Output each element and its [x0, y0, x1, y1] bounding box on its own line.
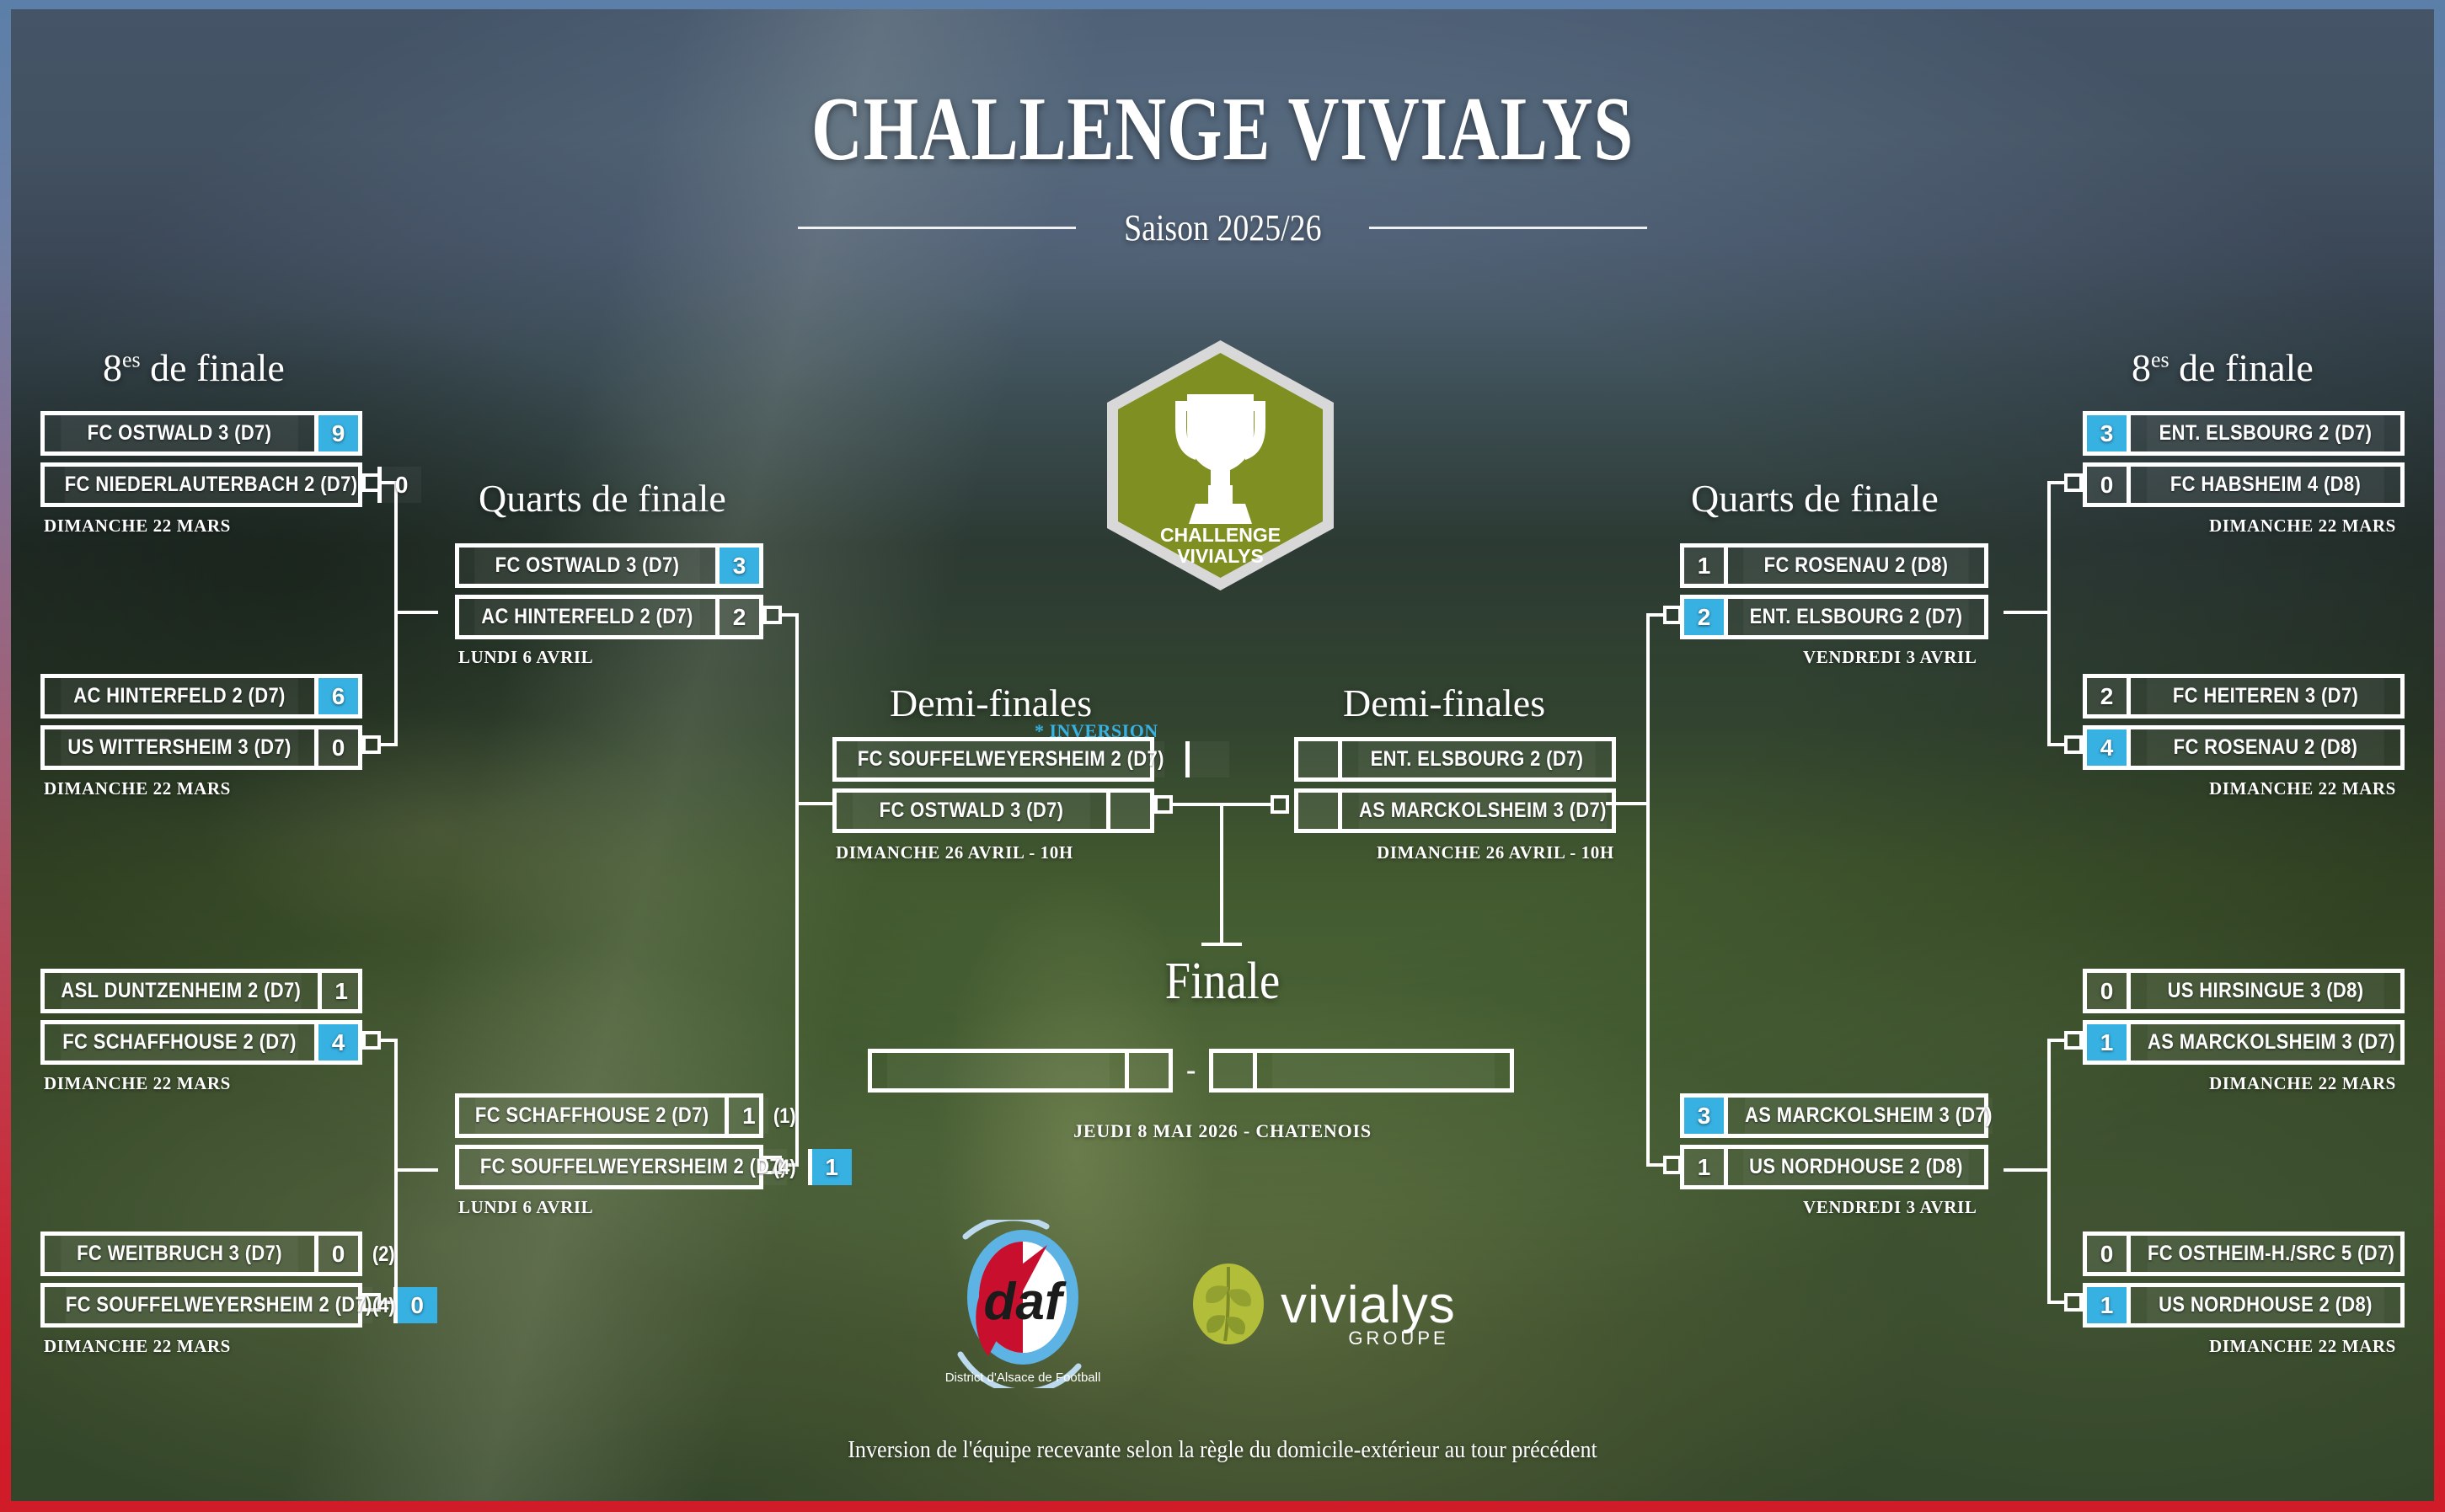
final-home-box[interactable]	[868, 1049, 1173, 1093]
team-score: 0	[314, 729, 358, 766]
season-subtitle: Saison 2025/26	[1124, 206, 1321, 249]
team-name: FC HEITEREN 3 (D7)	[2147, 678, 2384, 714]
match-row-home[interactable]: FC OSTWALD 3 (D7) 9	[40, 411, 362, 456]
final-away-box[interactable]	[1209, 1049, 1514, 1093]
connector-line	[1173, 803, 1223, 806]
connector-line	[394, 1168, 438, 1172]
match-row-away[interactable]: FC SOUFFELWEYERSHEIM 2 (D7) 0	[40, 1283, 362, 1328]
team-score: 1	[2087, 1024, 2131, 1061]
match-date: VENDREDI 3 AVRIL	[1803, 1197, 1977, 1218]
final-home-team	[887, 1053, 1110, 1088]
match-row-away[interactable]: FC NIEDERLAUTERBACH 2 (D7) 0	[40, 462, 362, 507]
team-name: ENT. ELSBOURG 2 (D7)	[1743, 599, 1969, 635]
connector-line	[1201, 943, 1242, 946]
connector-node	[763, 606, 782, 624]
sponsor-logos: daf District d'Alsace de Football vivial…	[935, 1220, 1500, 1388]
connector-line	[1646, 1163, 1663, 1167]
team-score: 6	[314, 678, 358, 714]
team-score: 0	[393, 1287, 437, 1323]
match-row-home[interactable]: 3 ENT. ELSBOURG 2 (D7)	[2083, 411, 2405, 456]
connector-node	[2064, 473, 2083, 492]
match-date: DIMANCHE 22 MARS	[44, 516, 231, 537]
challenge-badge: CHALLENGE VIVIALYS	[1100, 337, 1340, 594]
connector-line	[2047, 481, 2051, 743]
team-score: 2	[2087, 678, 2131, 714]
final-away-team	[1272, 1053, 1495, 1088]
match-date: VENDREDI 3 AVRIL	[1803, 647, 1977, 668]
connector-node	[362, 1031, 381, 1050]
match-date: DIMANCHE 26 AVRIL - 10H	[1377, 842, 1614, 863]
connector-node	[1154, 795, 1173, 814]
connector-node	[1663, 1156, 1682, 1174]
team-name: FC OSTWALD 3 (D7)	[853, 793, 1090, 829]
team-name: ENT. ELSBOURG 2 (D7)	[2147, 415, 2384, 451]
team-name: US NORDHOUSE 2 (D8)	[2147, 1287, 2384, 1323]
match-date: DIMANCHE 22 MARS	[44, 1073, 231, 1094]
team-name: AC HINTERFELD 2 (D7)	[474, 599, 700, 635]
team-name: AC HINTERFELD 2 (D7)	[61, 678, 298, 714]
connector-node	[1271, 795, 1289, 814]
team-score: 0	[2087, 1236, 2131, 1272]
match-r16-4[interactable]: 0 FC OSTHEIM-H./SRC 5 (D7) 1 US NORDHOUS…	[2083, 1232, 2405, 1328]
match-row-home[interactable]: 0 FC OSTHEIM-H./SRC 5 (D7)	[2083, 1232, 2405, 1276]
team-score: 3	[715, 548, 759, 584]
match-row-home[interactable]: 2 FC HEITEREN 3 (D7)	[2083, 674, 2405, 719]
team-name: FC SOUFFELWEYERSHEIM 2 (D7)	[66, 1287, 372, 1323]
final-separator: -	[1186, 1055, 1196, 1087]
match-rqf-1[interactable]: 1 FC ROSENAU 2 (D8) 2 ENT. ELSBOURG 2 (D…	[1680, 543, 1988, 639]
match-lqf-1[interactable]: FC OSTWALD 3 (D7) 3 AC HINTERFELD 2 (D7)…	[455, 543, 763, 639]
connector-line	[1220, 803, 1223, 946]
badge-line2: VIVIALYS	[1177, 545, 1264, 567]
team-score: 4	[314, 1024, 358, 1061]
connector-line	[1220, 803, 1271, 806]
connector-line	[795, 613, 799, 1163]
match-l16-4[interactable]: FC WEITBRUCH 3 (D7) 0 FC SOUFFELWEYERSHE…	[40, 1232, 362, 1328]
match-row-away[interactable]: FC SCHAFFHOUSE 2 (D7) 4	[40, 1020, 362, 1065]
team-score	[1106, 793, 1150, 829]
vivialys-wordmark: vivialys	[1281, 1276, 1456, 1334]
match-row-away[interactable]: AC HINTERFELD 2 (D7) 2	[455, 595, 763, 639]
team-name: AS MARCKOLSHEIM 3 (D7)	[2148, 1024, 2395, 1061]
match-row-away[interactable]: FC SOUFFELWEYERSHEIM 2 (D7) 1	[455, 1145, 763, 1189]
footnote: Inversion de l'équipe recevante selon la…	[122, 1436, 2323, 1464]
connector-node	[362, 735, 381, 754]
connector-line	[2047, 743, 2064, 746]
subtitle-row: Saison 2025/26	[0, 206, 2445, 249]
round-title-qf-right: Quarts de finale	[1691, 476, 1939, 521]
team-score: 0	[377, 467, 421, 503]
penalty-score-away: (4)	[372, 1294, 395, 1318]
daf-caption: District d'Alsace de Football	[945, 1370, 1101, 1385]
final-away-score	[1213, 1053, 1257, 1088]
team-name: FC NIEDERLAUTERBACH 2 (D7)	[65, 467, 358, 503]
team-score: 1	[1684, 548, 1728, 584]
match-date: DIMANCHE 22 MARS	[44, 1336, 231, 1357]
match-row-home[interactable]: AC HINTERFELD 2 (D7) 6	[40, 674, 362, 719]
team-name: FC OSTHEIM-H./SRC 5 (D7)	[2148, 1236, 2394, 1272]
team-score: 0	[314, 1236, 358, 1272]
final-match[interactable]: -	[868, 1049, 1514, 1093]
match-row-home[interactable]: FC SOUFFELWEYERSHEIM 2 (D7)	[832, 737, 1154, 782]
match-r16-2[interactable]: 2 FC HEITEREN 3 (D7) 4 FC ROSENAU 2 (D8)	[2083, 674, 2405, 770]
connector-line	[2047, 1039, 2051, 1301]
team-name: AS MARCKOLSHEIM 3 (D7)	[1359, 793, 1607, 829]
connector-node	[2064, 735, 2083, 754]
team-name: FC SOUFFELWEYERSHEIM 2 (D7)	[480, 1149, 787, 1185]
team-score	[1298, 793, 1342, 829]
final-home-score	[1125, 1053, 1169, 1088]
team-score: 4	[2087, 729, 2131, 766]
team-name: FC OSTWALD 3 (D7)	[61, 415, 298, 451]
team-score: 2	[715, 599, 759, 635]
match-row-away[interactable]: FC OSTWALD 3 (D7)	[832, 788, 1154, 833]
connector-node	[2064, 1293, 2083, 1312]
connector-line	[381, 743, 398, 746]
team-name: FC OSTWALD 3 (D7)	[474, 548, 700, 584]
connector-node	[1663, 606, 1682, 624]
team-name: FC HABSHEIM 4 (D8)	[2147, 467, 2384, 503]
round-title-r16-left: 8es de finale	[103, 345, 285, 390]
match-date: DIMANCHE 22 MARS	[2209, 778, 2396, 799]
match-row-home[interactable]: FC OSTWALD 3 (D7) 3	[455, 543, 763, 588]
rule-right	[1369, 227, 1647, 229]
vivialys-sub: GROUPE	[1348, 1328, 1448, 1349]
vivialys-logo: vivialys GROUPE	[1188, 1253, 1500, 1354]
match-row-home[interactable]: 1 FC ROSENAU 2 (D8)	[1680, 543, 1988, 588]
badge-line1: CHALLENGE	[1160, 524, 1281, 546]
match-date: DIMANCHE 22 MARS	[2209, 516, 2396, 537]
match-row-away[interactable]: 1 US NORDHOUSE 2 (D8)	[1680, 1145, 1988, 1189]
match-row-away[interactable]: 1 US NORDHOUSE 2 (D8)	[2083, 1283, 2405, 1328]
team-name: FC SCHAFFHOUSE 2 (D7)	[61, 1024, 298, 1061]
connector-line	[2004, 611, 2047, 614]
match-date: LUNDI 6 AVRIL	[458, 647, 593, 668]
round-title-qf-left: Quarts de finale	[479, 476, 726, 521]
team-name: FC ROSENAU 2 (D8)	[2147, 729, 2384, 766]
match-date: DIMANCHE 26 AVRIL - 10H	[836, 842, 1073, 863]
daf-logo: daf District d'Alsace de Football	[935, 1220, 1129, 1388]
team-score: 3	[2087, 415, 2131, 451]
round-title-r16-right: 8es de finale	[2132, 345, 2314, 390]
team-score: 1	[1684, 1149, 1728, 1185]
match-r16-1[interactable]: 3 ENT. ELSBOURG 2 (D7) 0 FC HABSHEIM 4 (…	[2083, 411, 2405, 507]
connector-line	[2047, 1301, 2064, 1304]
match-l16-1[interactable]: FC OSTWALD 3 (D7) 9 FC NIEDERLAUTERBACH …	[40, 411, 362, 507]
final-title: Finale	[147, 952, 2298, 1012]
final-date: JEUDI 8 MAI 2026 - CHATENOIS	[0, 1120, 2445, 1142]
frame-border-top	[0, 0, 2445, 9]
match-row-away[interactable]: 2 ENT. ELSBOURG 2 (D7)	[1680, 595, 1988, 639]
match-date: DIMANCHE 22 MARS	[2209, 1073, 2396, 1094]
bracket-poster: CHALLENGE VIVIALYS Saison 2025/26 CHALLE…	[0, 0, 2445, 1512]
match-date: DIMANCHE 22 MARS	[44, 778, 231, 799]
match-row-home[interactable]: FC WEITBRUCH 3 (D7) 0	[40, 1232, 362, 1276]
connector-line	[795, 802, 836, 805]
team-name: US WITTERSHEIM 3 (D7)	[61, 729, 298, 766]
connector-line	[394, 611, 438, 614]
match-lsf[interactable]: FC SOUFFELWEYERSHEIM 2 (D7) FC OSTWALD 3…	[832, 737, 1154, 833]
penalty-score-away: (4)	[773, 1156, 796, 1180]
team-name: US NORDHOUSE 2 (D8)	[1743, 1149, 1969, 1185]
team-name: FC WEITBRUCH 3 (D7)	[61, 1236, 298, 1272]
match-date: LUNDI 6 AVRIL	[458, 1197, 593, 1218]
match-rsf[interactable]: ENT. ELSBOURG 2 (D7) AS MARCKOLSHEIM 3 (…	[1294, 737, 1616, 833]
team-name: FC SOUFFELWEYERSHEIM 2 (D7)	[858, 741, 1164, 777]
connector-node	[2064, 1031, 2083, 1050]
team-score: 1	[2087, 1287, 2131, 1323]
frame-border-right	[2434, 0, 2445, 1512]
page-title: CHALLENGE VIVIALYS	[269, 77, 2176, 182]
match-row-away[interactable]: 0 FC HABSHEIM 4 (D8)	[2083, 462, 2405, 507]
team-score: 0	[2087, 467, 2131, 503]
match-l16-2[interactable]: AC HINTERFELD 2 (D7) 6 US WITTERSHEIM 3 …	[40, 674, 362, 770]
match-row-away[interactable]: 1 AS MARCKOLSHEIM 3 (D7)	[2083, 1020, 2405, 1065]
rule-left	[798, 227, 1076, 229]
match-row-home[interactable]: ENT. ELSBOURG 2 (D7)	[1294, 737, 1616, 782]
match-row-away[interactable]: AS MARCKOLSHEIM 3 (D7)	[1294, 788, 1616, 833]
match-date: DIMANCHE 22 MARS	[2209, 1336, 2396, 1357]
round-title-sf-left: Demi-finales	[890, 681, 1092, 725]
team-score: 2	[1684, 599, 1728, 635]
connector-line	[2004, 1168, 2047, 1172]
team-name: ENT. ELSBOURG 2 (D7)	[1358, 741, 1596, 777]
penalty-score-home: (2)	[372, 1242, 395, 1267]
team-score	[1185, 741, 1229, 777]
match-row-away[interactable]: US WITTERSHEIM 3 (D7) 0	[40, 725, 362, 770]
team-score: 1	[808, 1149, 852, 1185]
frame-border-bottom	[0, 1501, 2445, 1512]
team-name: FC ROSENAU 2 (D8)	[1743, 548, 1969, 584]
match-row-away[interactable]: 4 FC ROSENAU 2 (D8)	[2083, 725, 2405, 770]
round-title-sf-right: Demi-finales	[1343, 681, 1545, 725]
team-score: 9	[314, 415, 358, 451]
team-score	[1298, 741, 1342, 777]
connector-line	[1646, 613, 1650, 1163]
svg-text:daf: daf	[984, 1273, 1067, 1331]
frame-border-left	[0, 0, 11, 1512]
